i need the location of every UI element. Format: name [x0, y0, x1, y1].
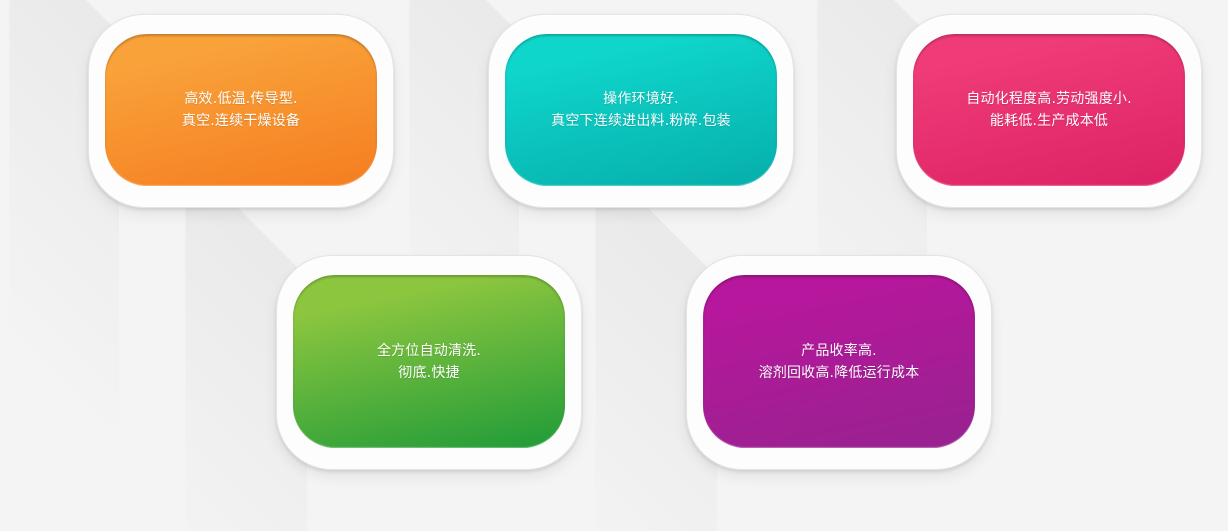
feature-card-environment[interactable]: 操作环境好. 真空下连续进出料.粉碎.包装	[488, 14, 794, 208]
feature-card-drying-surface: 高效.低温.传导型. 真空.连续干燥设备	[105, 34, 377, 186]
feature-card-drying[interactable]: 高效.低温.传导型. 真空.连续干燥设备	[88, 14, 394, 208]
feature-card-grid: 高效.低温.传导型. 真空.连续干燥设备 操作环境好. 真空下连续进出料.粉碎.…	[0, 0, 1228, 531]
feature-card-environment-surface: 操作环境好. 真空下连续进出料.粉碎.包装	[505, 34, 777, 186]
feature-card-automation-surface: 自动化程度高.劳动强度小. 能耗低.生产成本低	[913, 34, 1185, 186]
feature-card-yield-surface: 产品收率高. 溶剂回收高.降低运行成本	[703, 275, 975, 448]
feature-card-automation-label: 自动化程度高.劳动强度小. 能耗低.生产成本低	[952, 88, 1146, 132]
feature-card-cleaning-label: 全方位自动清洗. 彻底.快捷	[363, 340, 495, 384]
feature-card-cleaning-surface: 全方位自动清洗. 彻底.快捷	[293, 275, 565, 448]
feature-card-yield-label: 产品收率高. 溶剂回收高.降低运行成本	[745, 340, 934, 384]
feature-card-environment-label: 操作环境好. 真空下连续进出料.粉碎.包装	[537, 88, 745, 132]
feature-card-yield[interactable]: 产品收率高. 溶剂回收高.降低运行成本	[686, 255, 992, 470]
feature-card-cleaning[interactable]: 全方位自动清洗. 彻底.快捷	[276, 255, 582, 470]
feature-card-automation[interactable]: 自动化程度高.劳动强度小. 能耗低.生产成本低	[896, 14, 1202, 208]
feature-card-drying-label: 高效.低温.传导型. 真空.连续干燥设备	[168, 88, 314, 132]
